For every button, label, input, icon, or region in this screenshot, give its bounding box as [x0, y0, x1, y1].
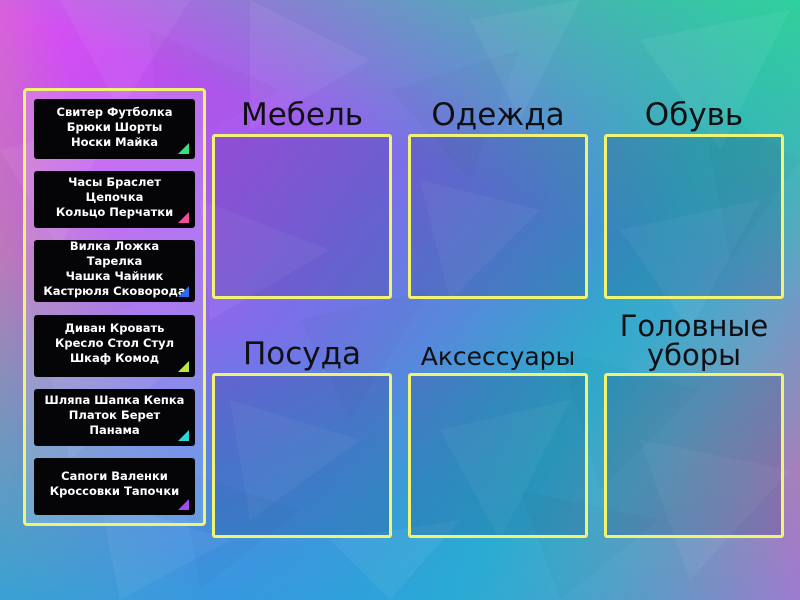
category-title: Аксессуары — [408, 307, 588, 373]
drop-zone-odezhda[interactable] — [408, 134, 588, 299]
drop-zone-obuv[interactable] — [604, 134, 784, 299]
category-title: Посуда — [212, 307, 392, 373]
word-card[interactable]: Шляпа Шапка КепкаПлаток Берет Панама — [34, 389, 195, 446]
category-cell: Обувь — [604, 68, 784, 299]
word-card[interactable]: Вилка Ложка ТарелкаЧашка ЧайникКастрюля … — [34, 240, 195, 302]
category-title: Одежда — [408, 68, 588, 134]
pink-corner-flag — [178, 212, 189, 223]
category-title: Обувь — [604, 68, 784, 134]
green-corner-flag — [178, 143, 189, 154]
category-title: Мебель — [212, 68, 392, 134]
drop-zone-posuda[interactable] — [212, 373, 392, 538]
category-cell: Аксессуары — [408, 307, 588, 538]
word-card[interactable]: Свитер ФутболкаБрюки ШортыНоски Майка — [34, 99, 195, 159]
drop-zone-aksessuary[interactable] — [408, 373, 588, 538]
word-card-text: Часы Браслет ЦепочкаКольцо Перчатки — [42, 175, 187, 220]
purple-corner-flag — [178, 499, 189, 510]
word-card-text: Сапоги ВаленкиКроссовки Тапочки — [42, 469, 187, 499]
yellow-green-corner-flag — [178, 361, 189, 372]
blue-corner-flag — [178, 286, 189, 297]
word-card-text: Диван КроватьКресло Стол СтулШкаф Комод — [42, 321, 187, 366]
category-cell: Мебель — [212, 68, 392, 299]
cyan-corner-flag — [178, 430, 189, 441]
category-cell: Головные уборы — [604, 307, 784, 538]
category-title: Головные уборы — [604, 307, 784, 373]
word-card-text: Вилка Ложка ТарелкаЧашка ЧайникКастрюля … — [42, 240, 187, 299]
word-card-text: Свитер ФутболкаБрюки ШортыНоски Майка — [42, 105, 187, 150]
word-card-text: Шляпа Шапка КепкаПлаток Берет Панама — [42, 393, 187, 438]
category-cell: Посуда — [212, 307, 392, 538]
drop-zone-golovnye-ubory[interactable] — [604, 373, 784, 538]
word-card[interactable]: Часы Браслет ЦепочкаКольцо Перчатки — [34, 171, 195, 228]
category-grid: Мебель Одежда Обувь Посуда Аксессуары Го… — [212, 68, 784, 538]
word-card[interactable]: Сапоги ВаленкиКроссовки Тапочки — [34, 458, 195, 515]
word-card-tray: Свитер ФутболкаБрюки ШортыНоски Майка Ча… — [23, 88, 206, 526]
drop-zone-mebel[interactable] — [212, 134, 392, 299]
category-cell: Одежда — [408, 68, 588, 299]
word-card[interactable]: Диван КроватьКресло Стол СтулШкаф Комод — [34, 315, 195, 377]
